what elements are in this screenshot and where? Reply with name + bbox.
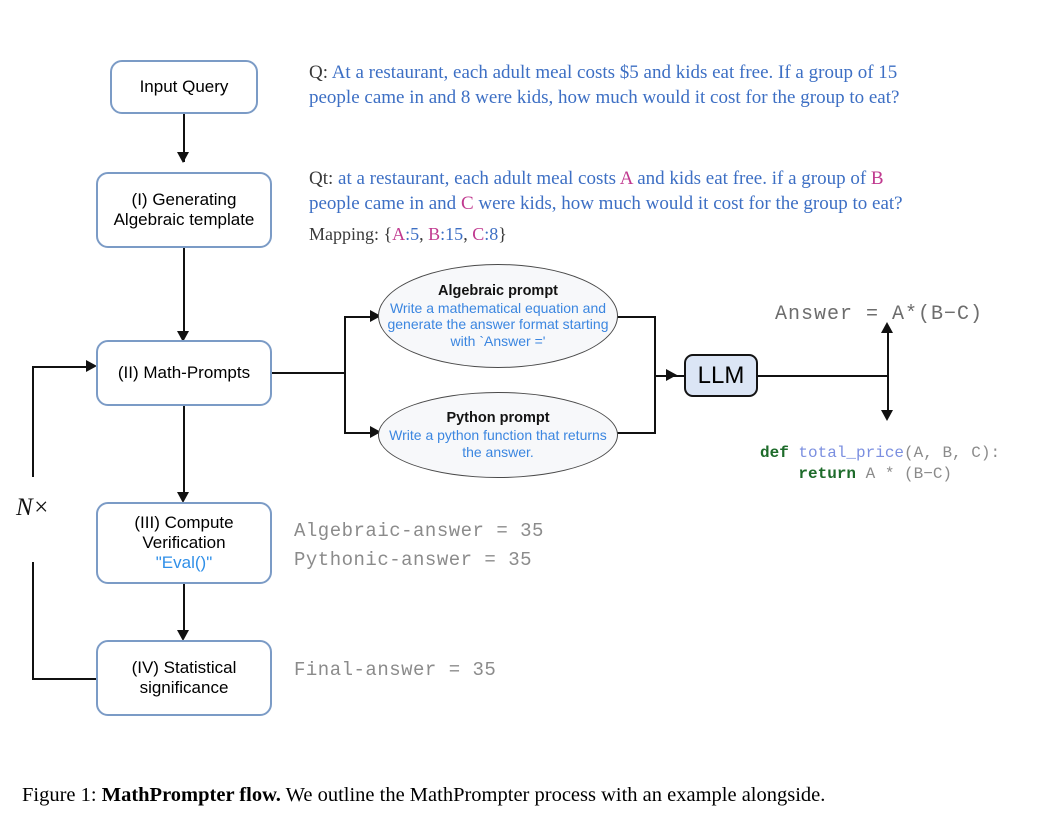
llm-answer-expression: Answer = A*(B−C) xyxy=(775,303,983,326)
mapping-label: Mapping: xyxy=(309,224,379,244)
merge-from-algebraic xyxy=(616,316,656,318)
algebraic-prompt-body-line-1: Write a mathematical equation and xyxy=(387,300,608,316)
llm-python-code: def total_price(A, B, C): return A * (B−… xyxy=(760,421,1000,486)
python-prompt-body-line-2: the answer. xyxy=(389,444,607,460)
mapping-key-b: B xyxy=(428,224,440,244)
template-variable-c: C xyxy=(461,193,474,214)
box-step-3-eval-label: "Eval()" xyxy=(156,553,212,573)
template-line-2-part-a: people came in and xyxy=(309,193,461,214)
ellipse-python-prompt[interactable]: Python prompt Write a python function th… xyxy=(378,392,618,478)
code-return-expression: A * (B−C) xyxy=(856,465,952,483)
code-keyword-return: return xyxy=(798,465,856,483)
loop-left-lower xyxy=(32,562,34,680)
example-question: Q: At a restaurant, each adult meal cost… xyxy=(309,60,1019,110)
caption-prefix: Figure 1: xyxy=(22,784,97,806)
box-input-query-label: Input Query xyxy=(140,77,229,97)
template-line-2-part-b: were kids, how much would it cost for th… xyxy=(474,193,903,214)
box-input-query[interactable]: Input Query xyxy=(110,60,258,114)
final-answer: Final-answer = 35 xyxy=(294,659,496,681)
box-step-3-line2: Verification xyxy=(142,533,225,553)
arrowhead-code-output xyxy=(881,410,893,421)
mapping-open-brace: { xyxy=(384,224,393,244)
branch-vertical xyxy=(344,316,346,432)
example-template: Qt: at a restaurant, each adult meal cos… xyxy=(309,166,1019,216)
box-step-4-line2: significance xyxy=(140,678,229,698)
arrowhead-llm xyxy=(666,369,677,381)
mapping-separator-1: , xyxy=(419,224,428,244)
connector-step1-to-step2 xyxy=(183,247,185,337)
python-prompt-title: Python prompt xyxy=(446,410,549,426)
mapping-key-a: A xyxy=(392,224,405,244)
verification-pythonic-answer: Pythonic-answer = 35 xyxy=(294,549,532,571)
code-indent xyxy=(760,465,798,483)
box-step-3-line1: (III) Compute xyxy=(134,513,233,533)
mapping-key-c: C xyxy=(472,224,484,244)
connector-step3-to-step4 xyxy=(183,584,185,636)
python-prompt-body-line-1: Write a python function that returns xyxy=(389,427,607,443)
algebraic-prompt-body-line-2: generate the answer format starting xyxy=(387,316,608,332)
loop-left-upper xyxy=(32,366,34,477)
box-llm[interactable]: LLM xyxy=(684,354,758,397)
code-signature: (A, B, C): xyxy=(904,444,1000,462)
code-keyword-def: def xyxy=(760,444,789,462)
question-line-1: At a restaurant, each adult meal costs $… xyxy=(332,62,898,83)
box-step-3-compute-verification[interactable]: (III) Compute Verification "Eval()" xyxy=(96,502,272,584)
box-step-4-line1: (IV) Statistical xyxy=(132,658,237,678)
arrowhead-step1 xyxy=(177,152,189,163)
algebraic-prompt-body: Write a mathematical equation and genera… xyxy=(381,300,614,348)
branch-stem-from-step2 xyxy=(272,372,344,374)
llm-label: LLM xyxy=(698,362,745,390)
ellipse-algebraic-prompt[interactable]: Algebraic prompt Write a mathematical eq… xyxy=(378,264,618,368)
algebraic-prompt-title: Algebraic prompt xyxy=(438,283,558,299)
mapping-value-c: :8 xyxy=(484,224,498,244)
caption-bold-title: MathPrompter flow. xyxy=(102,784,281,806)
arrowhead-answer-expression xyxy=(881,322,893,333)
loop-top-segment xyxy=(32,366,90,368)
question-label: Q: xyxy=(309,62,328,83)
box-step-1-generating-algebraic-template[interactable]: (I) Generating Algebraic template xyxy=(96,172,272,248)
template-line-1-part-a: at a restaurant, each adult meal costs xyxy=(338,168,620,189)
merge-from-python xyxy=(616,432,656,434)
figure-caption: Figure 1: MathPrompter flow. We outline … xyxy=(22,784,1032,807)
example-mapping: Mapping: {A:5, B:15, C:8} xyxy=(309,224,507,245)
mapping-separator-2: , xyxy=(463,224,472,244)
box-step-2-label: (II) Math-Prompts xyxy=(118,363,250,383)
loop-count-label: N× xyxy=(16,494,50,522)
llm-output-up xyxy=(887,330,889,376)
question-line-2: people came in and 8 were kids, how much… xyxy=(309,87,899,108)
loop-bottom-segment xyxy=(32,678,102,680)
template-line-1-part-b: and kids eat free. if a group of xyxy=(632,168,870,189)
template-variable-b: B xyxy=(871,168,884,189)
algebraic-prompt-body-line-3: with `Answer =' xyxy=(387,333,608,349)
connector-step2-to-step3 xyxy=(183,406,185,498)
caption-rest: We outline the MathPrompter process with… xyxy=(286,784,826,806)
box-step-1-line1: (I) Generating xyxy=(132,190,237,210)
box-step-1-line2: Algebraic template xyxy=(114,210,255,230)
box-step-2-math-prompts[interactable]: (II) Math-Prompts xyxy=(96,340,272,406)
mapping-close-brace: } xyxy=(498,224,507,244)
template-label: Qt: xyxy=(309,168,333,189)
verification-algebraic-answer: Algebraic-answer = 35 xyxy=(294,520,544,542)
mapping-value-b: :15 xyxy=(440,224,463,244)
box-step-4-statistical-significance[interactable]: (IV) Statistical significance xyxy=(96,640,272,716)
code-function-name: total_price xyxy=(789,444,904,462)
mapping-value-a: :5 xyxy=(405,224,419,244)
template-variable-a: A xyxy=(620,168,633,189)
python-prompt-body: Write a python function that returns the… xyxy=(383,427,613,459)
llm-output-horizontal xyxy=(758,375,888,377)
